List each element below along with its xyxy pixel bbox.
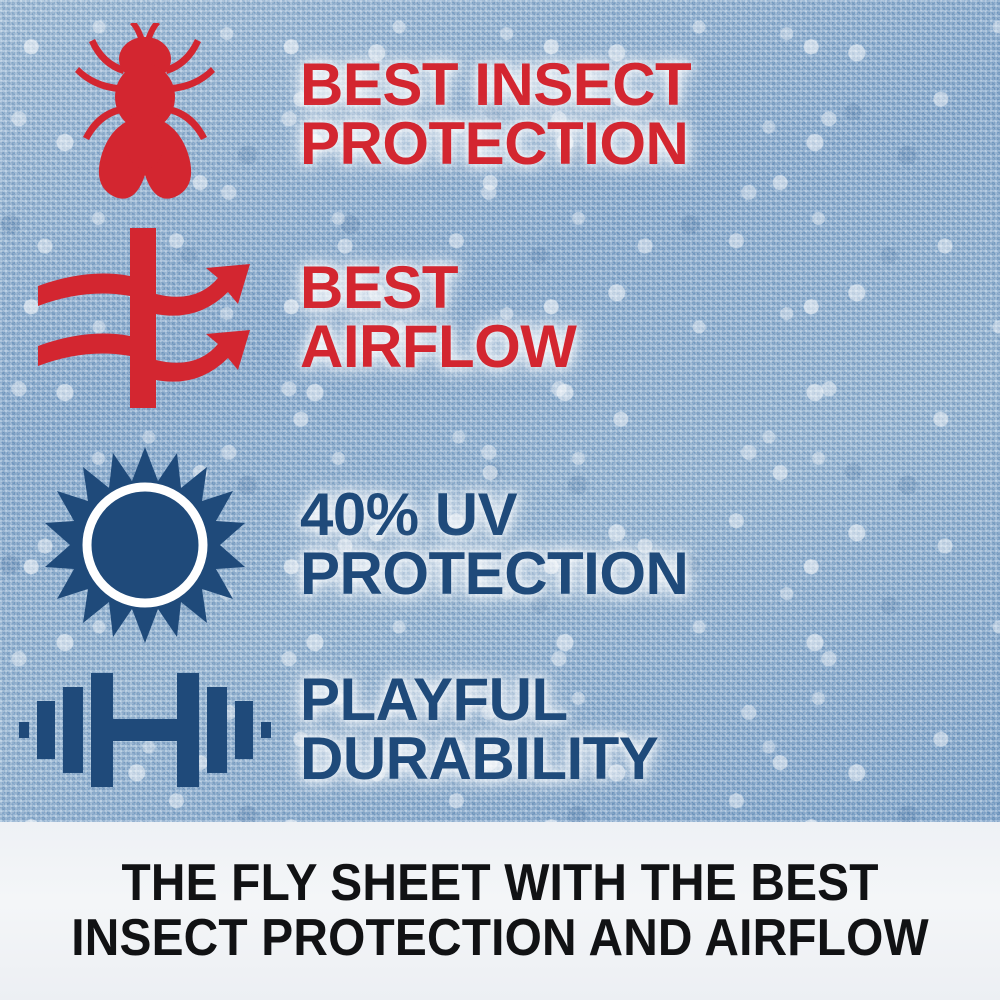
feature-row-uv-protection: 40% UV PROTECTION bbox=[0, 440, 1000, 650]
feature-icon-cell bbox=[0, 228, 290, 408]
feature-icon-cell bbox=[0, 445, 290, 645]
poster-caption: THE FLY SHEET WITH THE BEST INSECT PROTE… bbox=[71, 856, 929, 966]
feature-row-insect-protection: BEST INSECT PROTECTION bbox=[0, 20, 1000, 210]
feature-text-cell: BEST INSECT PROTECTION bbox=[290, 56, 1000, 174]
feature-label-airflow: BEST AIRFLOW bbox=[300, 259, 1000, 377]
feature-list: BEST INSECT PROTECTION bbox=[0, 0, 1000, 822]
caption-band: THE FLY SHEET WITH THE BEST INSECT PROTE… bbox=[0, 822, 1000, 1000]
feature-label-durability: PLAYFUL DURABILITY bbox=[300, 671, 1000, 789]
feature-text-cell: PLAYFUL DURABILITY bbox=[290, 671, 1000, 789]
feature-icon-cell bbox=[0, 23, 290, 208]
feature-text-cell: 40% UV PROTECTION bbox=[290, 486, 1000, 604]
sun-uv-icon bbox=[45, 445, 245, 645]
product-feature-poster: BEST INSECT PROTECTION bbox=[0, 0, 1000, 1000]
fly-icon bbox=[65, 23, 225, 208]
feature-row-airflow: BEST AIRFLOW bbox=[0, 218, 1000, 418]
feature-label-uv-protection: 40% UV PROTECTION bbox=[300, 486, 1000, 604]
feature-text-cell: BEST AIRFLOW bbox=[290, 259, 1000, 377]
airflow-icon bbox=[30, 228, 260, 408]
feature-icon-cell bbox=[0, 665, 290, 795]
feature-label-insect-protection: BEST INSECT PROTECTION bbox=[300, 56, 1000, 174]
feature-row-durability: PLAYFUL DURABILITY bbox=[0, 645, 1000, 815]
dumbbell-icon bbox=[17, 665, 273, 795]
